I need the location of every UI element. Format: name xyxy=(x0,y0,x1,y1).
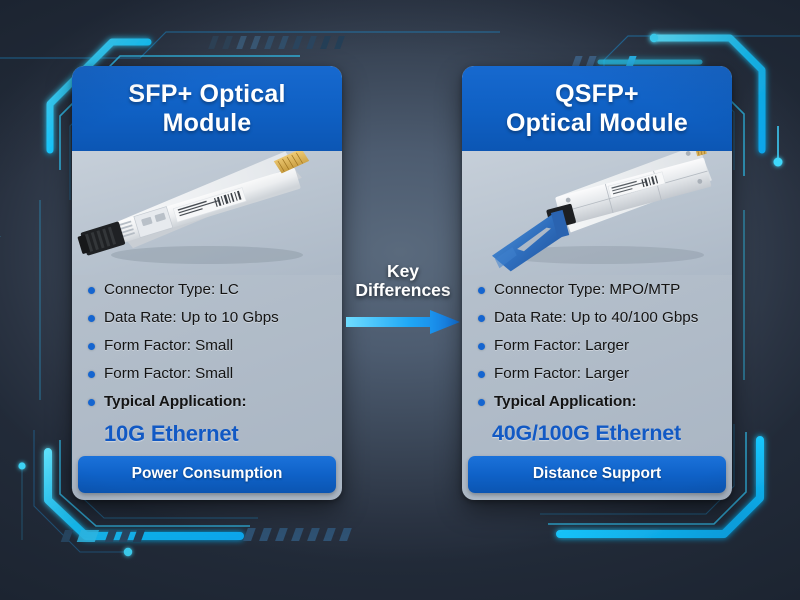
bullet-list-sfp-plus: Connector Type: LC Data Rate: Up to 10 G… xyxy=(72,275,342,456)
list-item: Data Rate: Up to 40/100 Gbps xyxy=(478,309,718,327)
key-differences-label: Key Differences xyxy=(344,262,462,301)
right-arrow-icon xyxy=(344,309,462,335)
list-item: Form Factor: Larger xyxy=(478,365,718,383)
list-item: Form Factor: Small xyxy=(88,337,328,355)
qsfp-plus-transceiver-photo xyxy=(462,151,732,275)
key-differences-block: Key Differences xyxy=(344,262,462,335)
card-title-qsfp-plus: QSFP+ Optical Module xyxy=(462,66,732,151)
bullet-list-qsfp-plus: Connector Type: MPO/MTP Data Rate: Up to… xyxy=(462,275,732,456)
list-item: Form Factor: Larger xyxy=(478,337,718,355)
card-title-line1: QSFP+ xyxy=(555,80,639,108)
highlight-value-qsfp-plus: 40G/100G Ethernet xyxy=(492,421,718,446)
list-item: Connector Type: MPO/MTP xyxy=(478,281,718,299)
card-title-line1: SFP+ Optical xyxy=(128,80,285,108)
list-item: Data Rate: Up to 10 Gbps xyxy=(88,309,328,327)
bullet-dot-icon xyxy=(88,371,95,378)
card-title-sfp-plus: SFP+ Optical Module xyxy=(72,66,342,151)
slide-stage: SFP+ Optical Module xyxy=(0,0,800,600)
bullet-dot-icon xyxy=(478,343,485,350)
list-item: Form Factor: Small xyxy=(88,365,328,383)
card-sfp-plus[interactable]: SFP+ Optical Module xyxy=(72,66,342,500)
sfp-plus-transceiver-photo xyxy=(72,151,342,275)
bullet-dot-icon xyxy=(88,399,95,406)
bullet-dot-icon xyxy=(88,315,95,322)
highlight-value-sfp-plus: 10G Ethernet xyxy=(104,421,328,447)
footer-badge-sfp-plus[interactable]: Power Consumption xyxy=(78,456,336,493)
list-item: Typical Application: xyxy=(88,393,328,411)
list-item: Typical Application: xyxy=(478,393,718,411)
bullet-dot-icon xyxy=(478,399,485,406)
footer-badge-qsfp-plus[interactable]: Distance Support xyxy=(468,456,726,493)
list-item: Connector Type: LC xyxy=(88,281,328,299)
bullet-dot-icon xyxy=(478,371,485,378)
card-qsfp-plus[interactable]: QSFP+ Optical Module xyxy=(462,66,732,500)
bullet-dot-icon xyxy=(478,287,485,294)
bullet-dot-icon xyxy=(88,287,95,294)
bullet-dot-icon xyxy=(88,343,95,350)
card-title-line2: Optical Module xyxy=(506,109,688,137)
bullet-dot-icon xyxy=(478,315,485,322)
card-title-line2: Module xyxy=(163,109,252,137)
